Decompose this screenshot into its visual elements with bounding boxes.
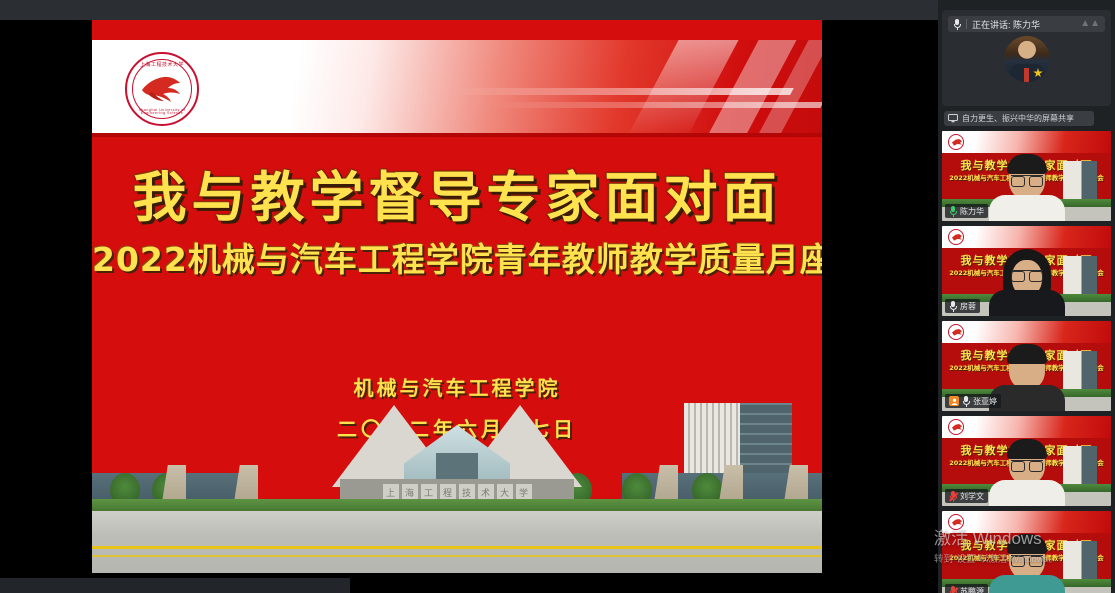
slide-organizer: 机械与汽车工程学院	[92, 372, 822, 401]
glasses-icon	[1011, 175, 1043, 184]
participant-tile[interactable]: 我与教学督导专家面对面 2022机械与汽车工程学院青年教师教学质量月座谈会 陈力…	[942, 131, 1111, 221]
dove-icon	[952, 424, 962, 431]
participant-tile[interactable]: 我与教学督导专家面对面 2022机械与汽车工程学院青年教师教学质量月座谈会 刘学…	[942, 416, 1111, 506]
dove-icon	[952, 329, 962, 336]
participant-nameplate: 房蓉	[945, 299, 980, 313]
gate-char: 学	[516, 484, 532, 500]
participant-video-person	[989, 537, 1065, 593]
active-speaker-card[interactable]: 正在讲话: 陈力华 ▲▲	[942, 10, 1111, 106]
participant-tile[interactable]: 我与教学督导专家面对面 2022机械与汽车工程学院青年教师教学质量月座谈会 房蓉	[942, 226, 1111, 316]
chevron-collapse-icon[interactable]: ▲▲	[1080, 19, 1100, 29]
monitor-screen-icon	[948, 110, 958, 128]
microphone-icon	[949, 301, 957, 312]
screen-share-label: 自力更生、振兴中华的屏幕共享	[944, 111, 1094, 126]
microphone-muted-icon	[949, 586, 957, 593]
slide-subtitle: 2022机械与汽车工程学院青年教师教学质量月座谈会	[92, 233, 822, 281]
participant-video-person	[989, 442, 1065, 506]
shared-content-area[interactable]: 上海工程技术大学 Shanghai University of Engineer…	[0, 20, 938, 573]
participant-name: 张亚婷	[973, 396, 997, 407]
tile-slide-banner	[942, 321, 1111, 343]
participant-tile[interactable]: 我与教学督导专家面对面 2022机械与汽车工程学院青年教师教学质量月座谈会 张亚…	[942, 321, 1111, 411]
banner-streak	[490, 102, 822, 108]
participants-sidebar[interactable]: 正在讲话: 陈力华 ▲▲ 自力更生、振兴中华的屏幕共享 我与教学督导专家面对面 …	[938, 0, 1115, 593]
participant-name: 苏鹏源	[960, 586, 984, 593]
glasses-icon	[1011, 270, 1043, 279]
participant-nameplate: 刘学文	[945, 489, 988, 503]
participant-nameplate: 张亚婷	[945, 394, 1001, 408]
avatar-tie	[1024, 68, 1029, 82]
divider	[966, 19, 967, 29]
participant-video-person	[989, 157, 1065, 221]
tile-slide-banner	[942, 226, 1111, 248]
campus-road-marking	[92, 546, 822, 549]
participant-video-person	[989, 252, 1065, 316]
campus-ground	[92, 511, 822, 573]
microphone-icon	[949, 206, 957, 217]
university-seal-logo	[948, 514, 964, 530]
microphone-muted-icon	[949, 491, 957, 502]
campus-road-marking	[92, 555, 822, 557]
participant-tile[interactable]: 我与教学督导专家面对面 2022机械与汽车工程学院青年教师教学质量月座谈会 苏鹏…	[942, 511, 1111, 593]
gate-char: 技	[459, 484, 475, 500]
microphone-icon	[962, 396, 970, 407]
dove-icon	[952, 519, 962, 526]
banner-streak	[450, 88, 794, 95]
participant-nameplate: 陈力华	[945, 204, 988, 218]
dove-icon	[140, 74, 184, 104]
active-speaker-bar[interactable]: 正在讲话: 陈力华 ▲▲	[948, 16, 1105, 32]
participant-name: 房蓉	[960, 301, 976, 312]
participant-nameplate: 苏鹏源	[945, 584, 988, 593]
slide-main-title: 我与教学督导专家面对面	[92, 153, 822, 232]
dove-icon	[952, 234, 962, 241]
university-seal-logo	[948, 134, 964, 150]
presentation-slide: 上海工程技术大学 Shanghai University of Engineer…	[92, 20, 822, 573]
gate-char: 工	[421, 484, 437, 500]
gate-char: 术	[478, 484, 494, 500]
glasses-icon	[1011, 460, 1043, 469]
stage-left-pillar	[0, 20, 92, 573]
seal-top-text: 上海工程技术大学	[127, 63, 197, 68]
university-seal-logo	[948, 419, 964, 435]
taskbar-strip[interactable]	[0, 578, 350, 593]
slide-header-banner: 上海工程技术大学 Shanghai University of Engineer…	[92, 40, 822, 137]
meeting-app-window: 上海工程技术大学 Shanghai University of Engineer…	[0, 0, 1115, 593]
stage-top-strip	[0, 0, 938, 20]
gate-char: 上	[383, 484, 399, 500]
participant-name: 陈力华	[960, 206, 984, 217]
screen-share-text: 自力更生、振兴中华的屏幕共享	[962, 113, 1074, 124]
host-badge-icon	[949, 396, 959, 406]
microphone-icon	[953, 19, 961, 30]
stage-right-pillar	[822, 20, 938, 573]
active-speaker-label: 正在讲话: 陈力华	[972, 18, 1040, 31]
banner-underline	[92, 133, 822, 137]
gate-char: 海	[402, 484, 418, 500]
participant-name: 刘学文	[960, 491, 984, 502]
gate-char: 大	[497, 484, 513, 500]
university-seal-logo: 上海工程技术大学 Shanghai University of Engineer…	[125, 52, 199, 126]
tile-slide-banner	[942, 131, 1111, 153]
gate-char: 程	[440, 484, 456, 500]
university-seal-logo	[948, 229, 964, 245]
tile-slide-banner	[942, 416, 1111, 438]
university-seal-logo	[948, 324, 964, 340]
shared-screen-stage[interactable]: 上海工程技术大学 Shanghai University of Engineer…	[0, 0, 938, 593]
dove-icon	[952, 139, 962, 146]
glasses-icon	[1011, 555, 1043, 564]
tile-slide-banner	[942, 511, 1111, 533]
campus-photo: 上 海 工 程 技 术 大 学	[92, 403, 822, 573]
avatar	[1004, 36, 1050, 82]
seal-bottom-text: Shanghai University of Engineering Scien…	[127, 109, 197, 116]
